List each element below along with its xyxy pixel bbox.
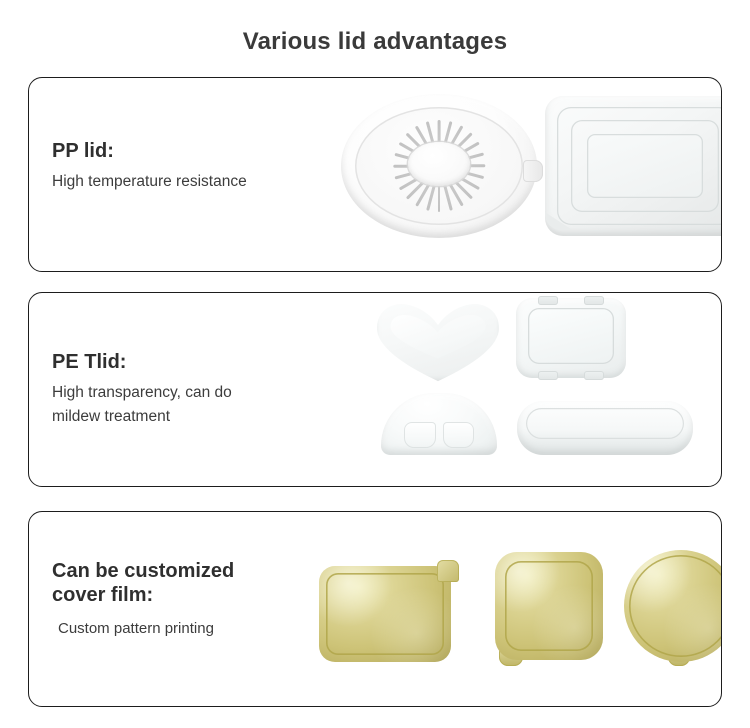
- dome-lid-segment-right: [443, 422, 474, 448]
- foil-rect-rim: [326, 573, 444, 655]
- oval-pet-lid-image: [517, 401, 693, 455]
- round-gold-foil-lid-image: [624, 550, 722, 674]
- card-foil-heading: Can be customized cover film:: [52, 559, 234, 608]
- rect-lid-ridge-inner: [587, 134, 703, 198]
- card-pe-heading: PE Tlid:: [52, 350, 232, 374]
- square-gold-foil-lid-image: [491, 552, 607, 672]
- page-title: Various lid advantages: [0, 16, 750, 55]
- rectangular-pp-lid-image: [545, 96, 722, 236]
- square-lid-inner-panel: [528, 308, 614, 364]
- card-pp-heading: PP lid:: [52, 139, 247, 163]
- card-pp-subtitle: High temperature resistance: [52, 170, 247, 194]
- card-cover-film: Can be customized cover film: Custom pat…: [28, 511, 722, 707]
- foil-square-rim: [505, 561, 593, 651]
- card-pp-text-block: PP lid: High temperature resistance: [52, 139, 247, 194]
- card-foil-text-block: Can be customized cover film: Custom pat…: [52, 559, 234, 640]
- foil-round-rim: [629, 555, 722, 657]
- card-pe-lid: PE Tlid: High transparency, can do milde…: [28, 292, 722, 487]
- card-foil-products: [319, 512, 721, 706]
- dome-lid-body: [381, 393, 497, 455]
- round-pp-lid-image: [341, 94, 537, 238]
- card-foil-subtitle: Custom pattern printing: [52, 617, 234, 640]
- oval-lid-inner-panel: [526, 408, 684, 439]
- rectangular-gold-foil-lid-image: [319, 560, 459, 662]
- square-lid-notch: [538, 296, 558, 305]
- dome-lid-segment-left: [404, 422, 435, 448]
- square-lid-notch: [584, 371, 604, 380]
- card-pp-products: [319, 78, 721, 271]
- square-lid-notch: [538, 371, 558, 380]
- card-pe-products: [319, 293, 721, 486]
- dome-pet-lid-image: [381, 393, 497, 455]
- heart-pet-lid-image: [375, 301, 501, 383]
- card-pe-text-block: PE Tlid: High transparency, can do milde…: [52, 350, 232, 429]
- card-pe-subtitle: High transparency, can do mildew treatme…: [52, 381, 232, 429]
- card-pp-lid: PP lid: High temperature resistance: [28, 77, 722, 272]
- square-pet-lid-image: [516, 298, 626, 378]
- foil-rect-tab: [437, 560, 459, 582]
- round-lid-center-hub: [408, 142, 471, 187]
- square-lid-notch: [584, 296, 604, 305]
- round-lid-tab: [523, 160, 543, 182]
